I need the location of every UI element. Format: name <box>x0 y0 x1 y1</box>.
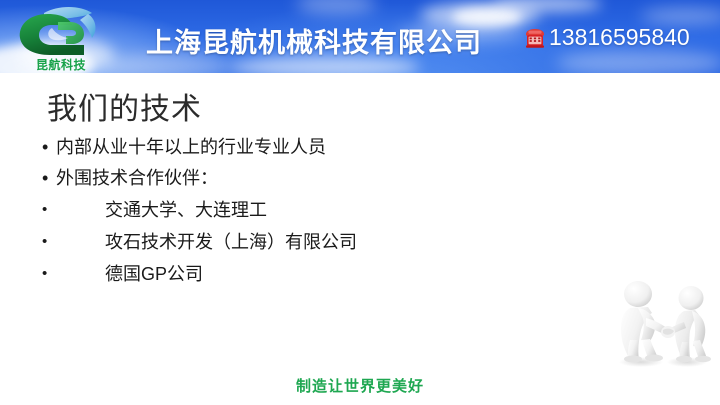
handshake-figures-icon <box>608 278 720 373</box>
bullet-marker-icon: • <box>42 163 54 194</box>
company-logo[interactable]: 昆航科技 <box>14 4 106 72</box>
bullet-marker-icon: • <box>42 226 54 258</box>
telephone-icon <box>522 25 548 51</box>
bullet-list: • 内部从业十年以上的行业专业人员 • 外围技术合作伙伴： • 交通大学、大连理… <box>42 132 602 290</box>
phone-number-text: 13816595840 <box>549 24 690 51</box>
list-item-label: 德国GP公司 <box>105 258 203 290</box>
list-item: • 交通大学、大连理工 <box>42 194 602 226</box>
bullet-marker-icon: • <box>42 132 54 163</box>
slide-header-banner: 昆航科技 上海昆航机械科技有限公司 1381659 <box>0 0 720 73</box>
logo-wordmark: 昆航科技 <box>36 56 86 73</box>
list-item-label: 外围技术合作伙伴： <box>56 163 218 194</box>
list-item: • 外围技术合作伙伴： <box>42 163 602 194</box>
bullet-marker-icon: • <box>42 194 54 226</box>
list-item-label: 内部从业十年以上的行业专业人员 <box>56 132 326 163</box>
company-name-title: 上海昆航机械科技有限公司 <box>146 21 482 60</box>
bullet-marker-icon: • <box>42 258 54 290</box>
list-item: • 德国GP公司 <box>42 258 602 290</box>
list-item-label: 攻石技术开发（上海）有限公司 <box>105 226 357 258</box>
list-item: • 内部从业十年以上的行业专业人员 <box>42 132 602 163</box>
list-item-label: 交通大学、大连理工 <box>105 194 267 226</box>
presentation-slide: 昆航科技 上海昆航机械科技有限公司 1381659 <box>0 0 720 405</box>
kunhang-bird-logo-icon <box>14 4 106 60</box>
contact-phone[interactable]: 13816595840 <box>522 24 690 51</box>
handshake-figures-decoration <box>608 278 720 373</box>
page-title: 我们的技术 <box>47 84 202 128</box>
list-item: • 攻石技术开发（上海）有限公司 <box>42 226 602 258</box>
footer-slogan: 制造让世界更美好 <box>0 375 720 396</box>
